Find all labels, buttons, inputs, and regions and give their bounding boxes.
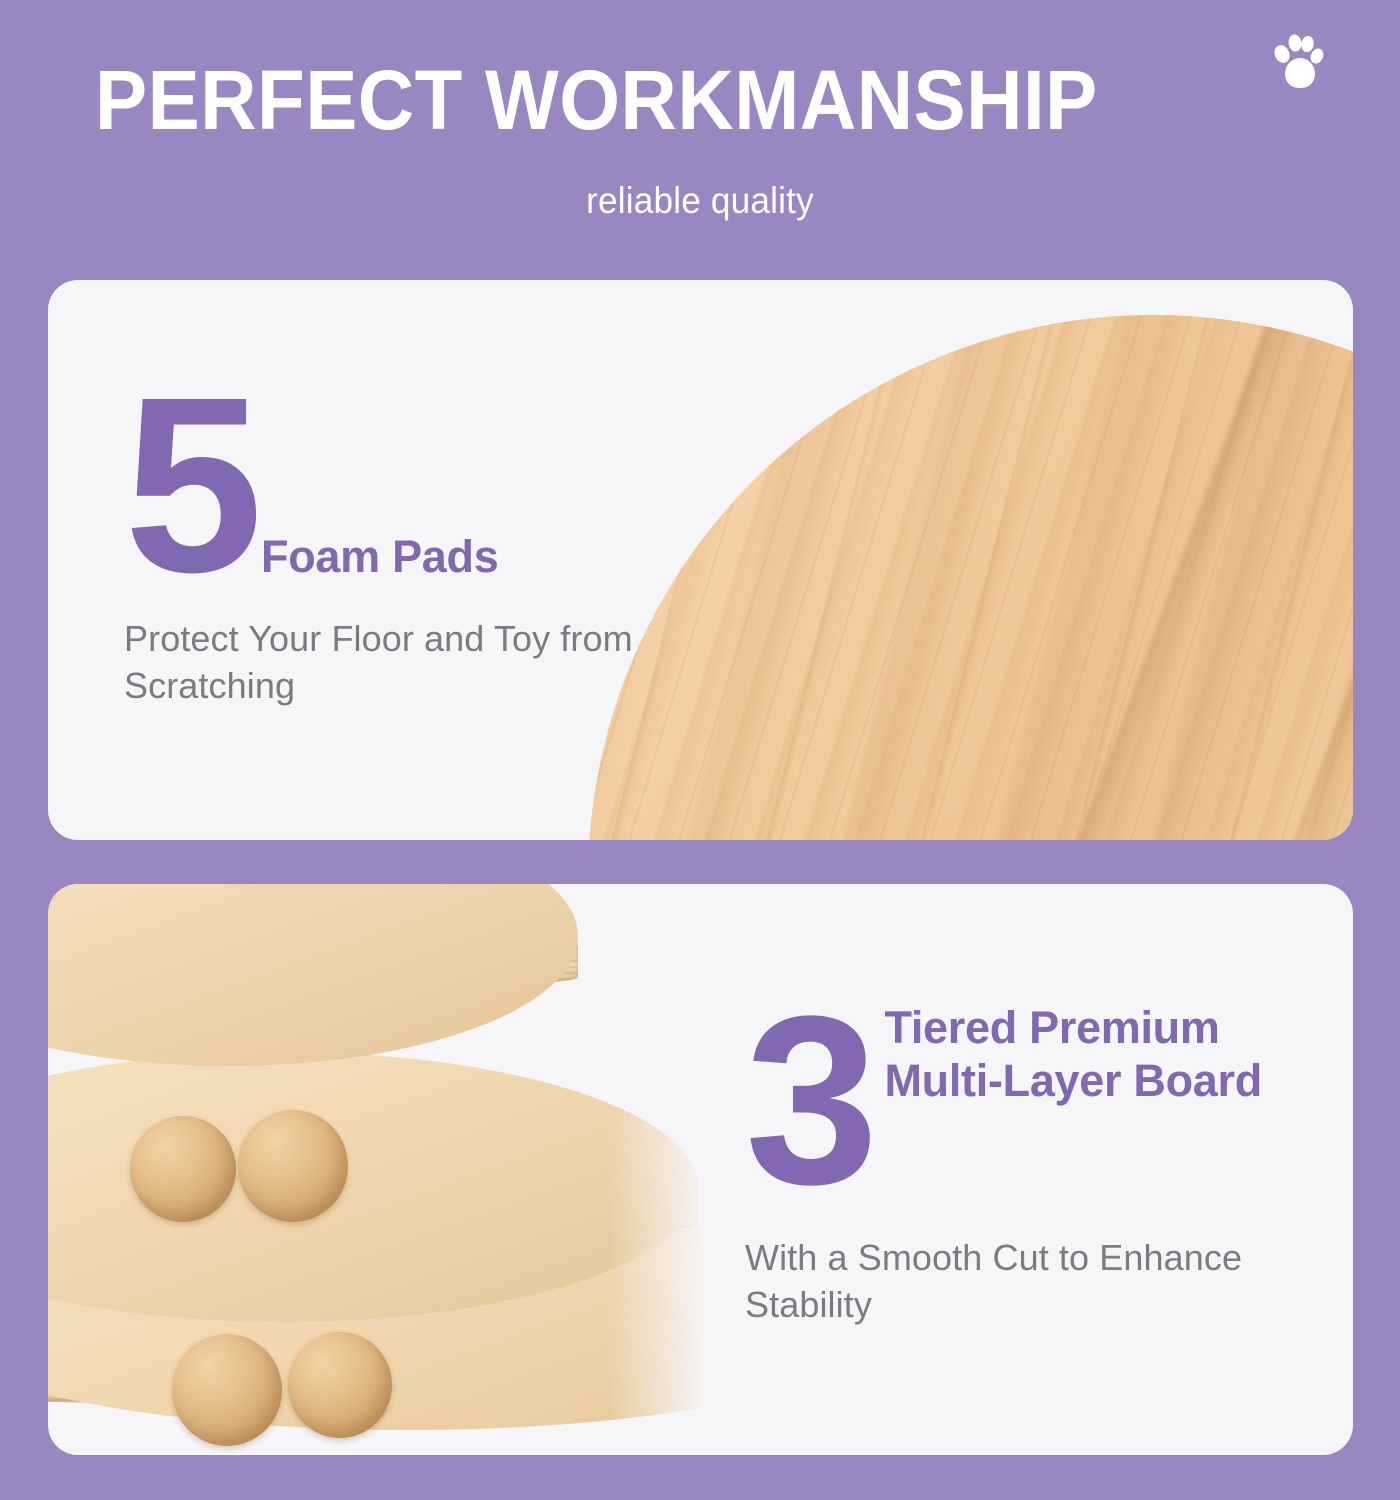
photo-edge-fade xyxy=(608,884,728,1455)
card-text-foam-pads: 5 Foam Pads Protect Your Floor and Toy f… xyxy=(124,380,644,710)
wooden-ball xyxy=(288,1332,392,1438)
wooden-ball xyxy=(238,1110,348,1222)
page-title: PERFECT WORKMANSHIP xyxy=(95,52,1098,148)
wooden-ball xyxy=(130,1116,236,1222)
card-heading-row: 5 Foam Pads xyxy=(124,380,644,590)
wood-disc-with-foam-pad-photo xyxy=(553,280,1353,840)
wood-tier-top xyxy=(48,884,578,1066)
wood-tier-face xyxy=(48,884,578,1066)
paw-print-icon xyxy=(1272,30,1324,92)
page-subtitle: reliable quality xyxy=(35,180,1365,222)
card-headline-foam-pads: Foam Pads xyxy=(257,531,498,590)
card-number-5: 5 xyxy=(124,380,257,590)
card-text-tiered-board: 3 Tiered Premium Multi-Layer Board With … xyxy=(745,996,1325,1328)
card-headline-tiered-board: Tiered Premium Multi-Layer Board xyxy=(872,996,1325,1107)
header-banner: PERFECT WORKMANSHIP reliable quality xyxy=(0,0,1400,265)
card-heading-row: 3 Tiered Premium Multi-Layer Board xyxy=(745,996,1325,1205)
feature-card-foam-pads: 5 Foam Pads Protect Your Floor and Toy f… xyxy=(48,280,1353,840)
card-description-foam-pads: Protect Your Floor and Toy from Scratchi… xyxy=(124,616,644,710)
wooden-ball xyxy=(172,1334,282,1446)
card-number-3: 3 xyxy=(745,996,872,1205)
card-description-tiered-board: With a Smooth Cut to Enhance Stability xyxy=(745,1235,1325,1329)
wood-disc-shape xyxy=(588,315,1353,840)
feature-card-tiered-board: 3 Tiered Premium Multi-Layer Board With … xyxy=(48,884,1353,1455)
stacked-wooden-tiers-with-balls-photo xyxy=(48,884,728,1455)
wood-grain-texture xyxy=(588,315,1353,840)
